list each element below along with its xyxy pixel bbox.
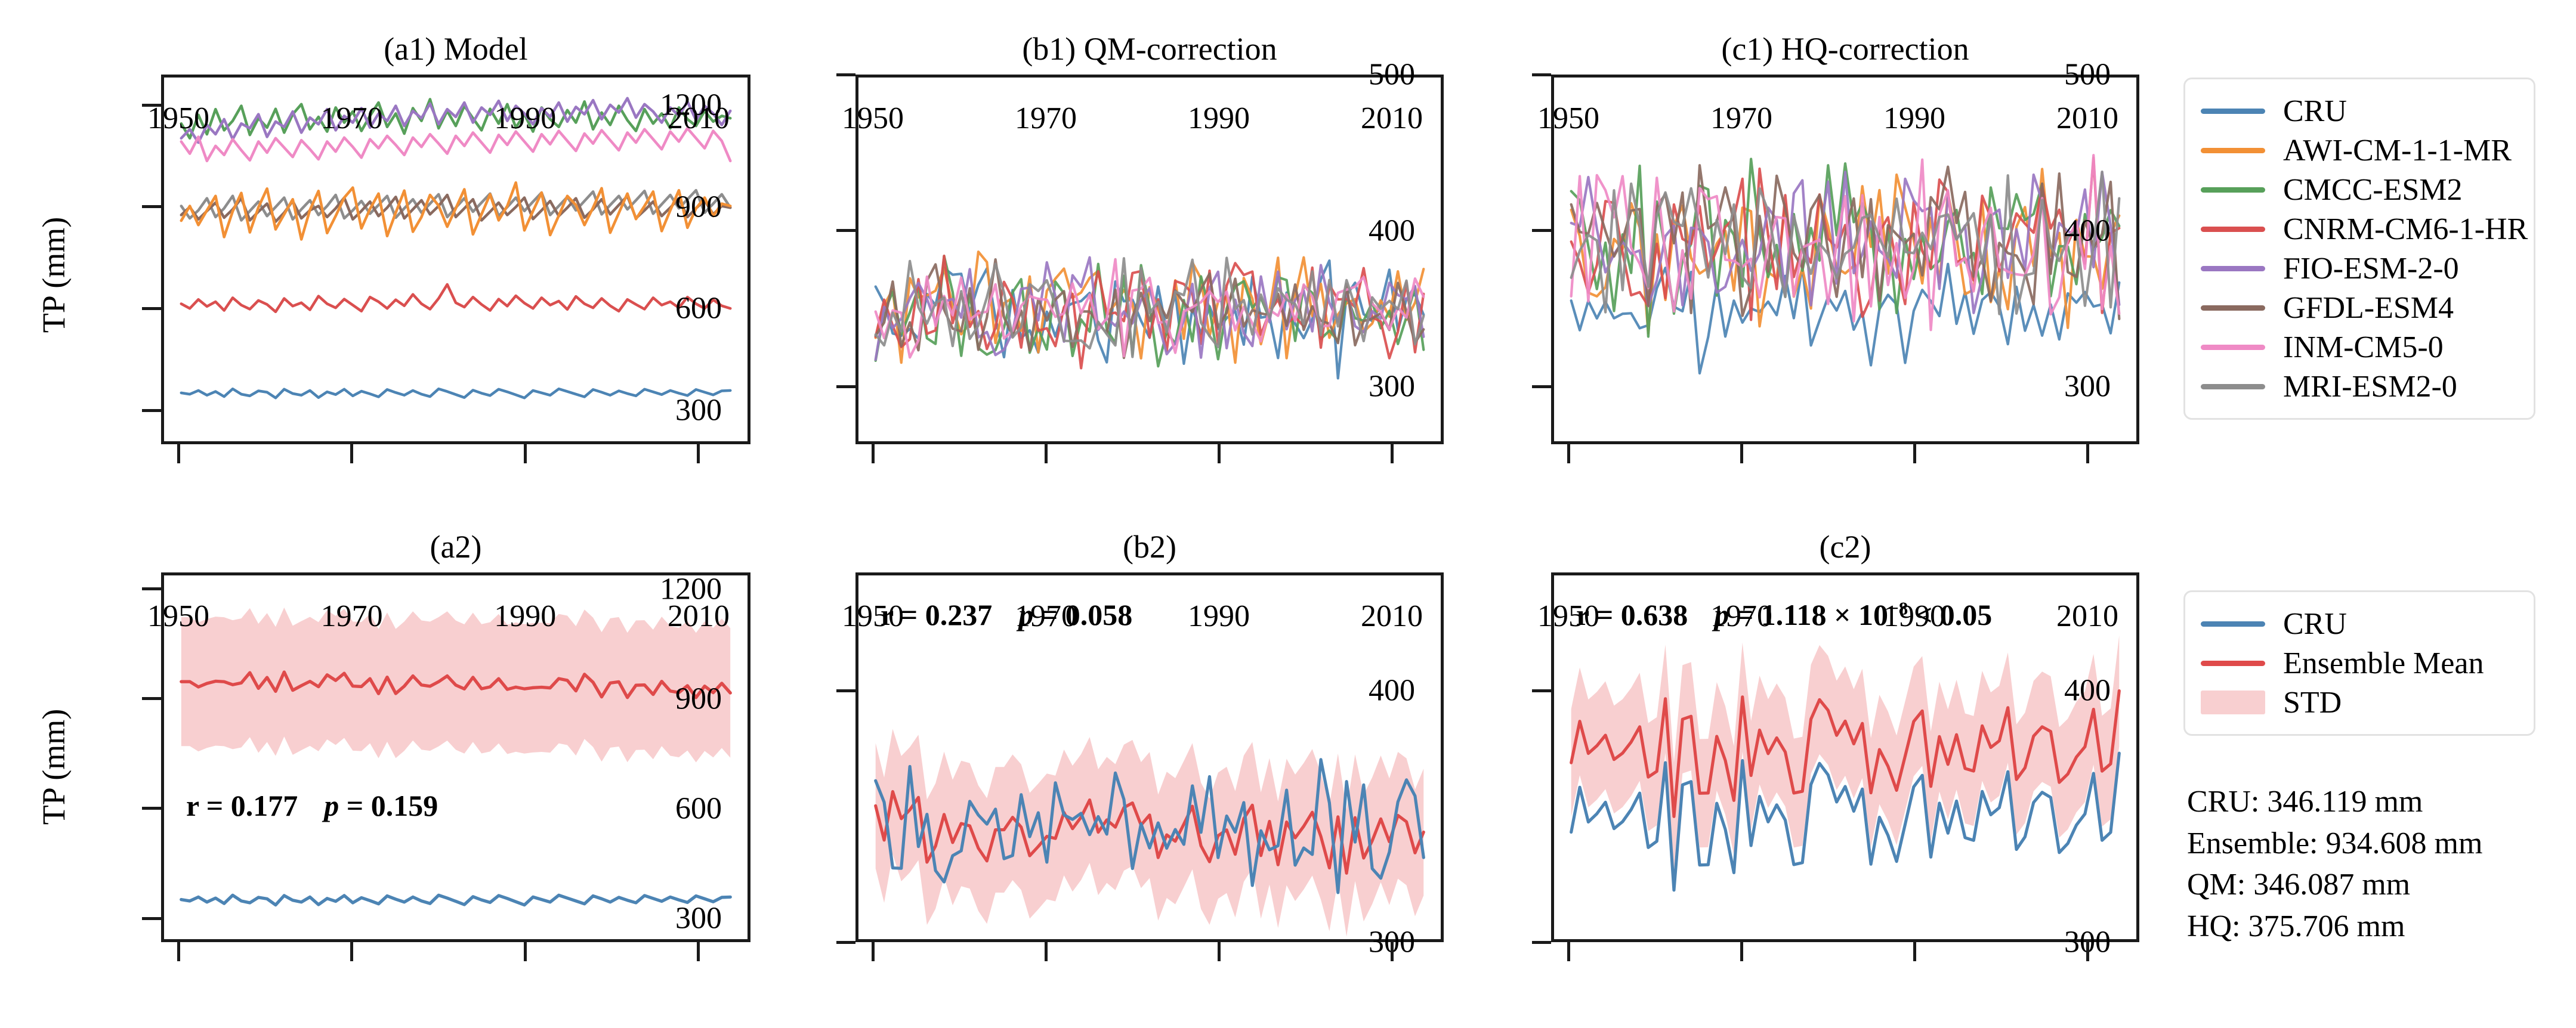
legend-label-fio-esm-2-0: FIO-ESM-2-0 [2283,251,2459,286]
ytick-label-c1-300: 300 [2064,369,2111,404]
xtick-a2-1990 [524,942,527,961]
xtick-c1-1950 [1567,444,1570,463]
legend-label-inm-cm5-0: INM-CM5-0 [2283,330,2444,365]
panel-b1-axes[interactable] [855,75,1444,444]
legend-label-awi-cm-1-1-mr: AWI-CM-1-1-MR [2283,133,2512,168]
xtick-c2-1970 [1740,942,1743,961]
c2-r-label: r [1576,598,1589,631]
xtick-a1-1970 [350,444,353,463]
c2-r-value: 0.638 [1621,598,1688,631]
legend-item-gfdl-esm4[interactable]: GFDL-ESM4 [2201,288,2516,327]
legend-label-cmcc-esm2: CMCC-ESM2 [2283,172,2463,208]
xtick-label-c1-1970: 1970 [1710,101,1772,136]
ytick-label-c1-500: 500 [2064,57,2111,92]
legend-item-cnrm-cm6-1-hr[interactable]: CNRM-CM6-1-HR [2201,209,2516,249]
xtick-label-b2-2010: 2010 [1361,599,1423,634]
legend-label-ensemble-mean: Ensemble Mean [2283,646,2484,681]
xtick-a1-1990 [524,444,527,463]
ytick-label-b2-400: 400 [1369,673,1415,708]
xtick-b2-2010 [1391,942,1394,961]
legend-label-mri-esm2-0: MRI-ESM2-0 [2283,369,2457,404]
xtick-c1-1990 [1913,444,1916,463]
ytick-a1-600 [142,307,161,310]
xtick-label-a1-1970: 1970 [321,101,383,136]
panel-a2-title: (a2) [161,528,750,565]
b2-r-value: 0.237 [925,598,993,631]
legend-item-mri-esm2-0[interactable]: MRI-ESM2-0 [2201,367,2516,406]
xtick-label-c1-1990: 1990 [1883,101,1945,136]
ytick-a2-600 [142,807,161,810]
panel-c1: (c1) HQ-correction 300400500 19501970199… [1551,75,2139,444]
stats-line-1: Ensemble: 934.608 mm [2187,823,2557,865]
legend-swatch-gfdl-esm4 [2201,305,2265,311]
ytick-label-b1-300: 300 [1369,369,1415,404]
xtick-label-b1-2010: 2010 [1361,101,1423,136]
xtick-c2-1990 [1913,942,1916,961]
ytick-a2-900 [142,697,161,700]
b2-p-label: p [1018,598,1033,631]
ytick-label-a1-900: 900 [675,189,722,224]
c2-p-exponent: −8 [1888,597,1908,618]
legend-item-cru[interactable]: CRU [2201,604,2516,643]
legend-item-cru[interactable]: CRU [2201,91,2516,131]
a2-r-value: 0.177 [231,789,298,822]
panel-b1-title: (b1) QM-correction [855,30,1444,67]
legend-swatch-awi-cm-1-1-mr [2201,148,2265,153]
series-a2-cru [181,895,730,905]
ytick-a1-900 [142,205,161,208]
series-a1-inm-cm5-0 [181,128,730,161]
xtick-b2-1990 [1218,942,1221,961]
xtick-label-b2-1990: 1990 [1188,599,1250,634]
panel-a2: (a2) 3006009001200 1950197019902010 r = … [161,572,750,942]
ytick-label-a2-300: 300 [675,901,722,936]
legend-item-std[interactable]: STD [2201,683,2516,722]
panel-a2-axes[interactable] [161,572,750,942]
c2-p-eq: = [1737,598,1754,631]
legend-item-inm-cm5-0[interactable]: INM-CM5-0 [2201,327,2516,367]
xtick-label-a2-1970: 1970 [321,599,383,634]
xtick-label-a2-2010: 2010 [668,599,730,634]
xtick-a1-2010 [697,444,700,463]
legend-swatch-mri-esm2-0 [2201,384,2265,389]
panel-b1: (b1) QM-correction 300400500 19501970199… [855,75,1444,444]
xtick-a2-1950 [177,942,180,961]
legend-label-cnrm-cm6-1-hr: CNRM-CM6-1-HR [2283,212,2528,247]
c2-p-compare: < 0.05 [1916,598,1993,631]
ytick-label-a2-900: 900 [675,681,722,716]
ytick-c1-400 [1532,229,1551,232]
a2-p-eq: = [347,789,364,822]
std-band-c2 [1571,636,2120,871]
xtick-b1-2010 [1391,444,1394,463]
b2-r-label: r [881,598,893,631]
ytick-label-b1-400: 400 [1369,213,1415,248]
ytick-b1-300 [836,385,855,388]
xtick-b1-1970 [1045,444,1048,463]
a2-p-label: p [324,789,339,822]
series-a1-cnrm-cm6-1-hr [181,284,730,312]
legend-swatch-cnrm-cm6-1-hr [2201,227,2265,232]
stats-summary: CRU: 346.119 mmEnsemble: 934.608 mmQM: 3… [2187,781,2557,948]
a2-p-value: 0.159 [371,789,438,822]
legend-item-awi-cm-1-1-mr[interactable]: AWI-CM-1-1-MR [2201,131,2516,170]
legend-item-fio-esm-2-0[interactable]: FIO-ESM-2-0 [2201,249,2516,288]
xtick-label-a2-1990: 1990 [494,599,556,634]
panel-c2-title: (c2) [1551,528,2139,565]
ytick-label-b1-500: 500 [1369,57,1415,92]
c2-p-label: p [1714,598,1729,631]
legend-swatch-inm-cm5-0 [2201,345,2265,350]
xtick-c1-2010 [2086,444,2089,463]
xtick-a2-1970 [350,942,353,961]
legend-label-std: STD [2283,685,2342,720]
xtick-b1-1950 [872,444,875,463]
ytick-b2-300 [836,941,855,944]
xtick-label-c1-1950: 1950 [1537,101,1599,136]
xtick-a2-2010 [697,942,700,961]
xtick-b1-1990 [1218,444,1221,463]
panel-b2-title: (b2) [855,528,1444,565]
c2-r-eq: = [1596,598,1614,631]
ytick-label-a1-300: 300 [675,393,722,428]
stats-line-3: HQ: 375.706 mm [2187,906,2557,948]
ytick-a2-300 [142,917,161,920]
legend-item-cmcc-esm2[interactable]: CMCC-ESM2 [2201,170,2516,209]
xtick-label-a1-1990: 1990 [494,101,556,136]
legend-swatch-fio-esm-2-0 [2201,266,2265,271]
ytick-a1-300 [142,409,161,412]
ytick-label-a2-600: 600 [675,791,722,826]
legend-ensemble[interactable]: CRUEnsemble MeanSTD [2183,590,2535,736]
panel-b2-stat-annotation: r = 0.237p = 0.058 [881,597,1132,632]
legend-swatch-cmcc-esm2 [2201,187,2265,193]
ytick-label-c2-400: 400 [2064,673,2111,708]
xtick-label-c1-2010: 2010 [2056,101,2118,136]
xtick-c1-1970 [1740,444,1743,463]
xtick-b2-1950 [872,942,875,961]
ytick-a2-1200 [142,587,161,590]
legend-label-gfdl-esm4: GFDL-ESM4 [2283,290,2454,326]
b2-p-value: 0.058 [1065,598,1133,631]
b2-r-eq: = [901,598,918,631]
xtick-label-a1-2010: 2010 [668,101,730,136]
a2-r-label: r [186,789,199,822]
panel-a1-title: (a1) Model [161,30,750,67]
panel-a1-axes[interactable] [161,75,750,444]
legend-swatch-std [2201,691,2265,714]
ytick-label-c1-400: 400 [2064,213,2111,248]
stats-line-0: CRU: 346.119 mm [2187,781,2557,823]
c2-p-mantissa: 1.118 × 10 [1761,598,1888,631]
ytick-b1-500 [836,73,855,76]
xtick-label-a1-1950: 1950 [147,101,209,136]
legend-swatch-cru [2201,109,2265,114]
panel-a2-stat-annotation: r = 0.177p = 0.159 [186,788,438,823]
ytick-c1-300 [1532,385,1551,388]
panel-b2: (b2) 300400 1950197019902010 r = 0.237p … [855,572,1444,942]
panel-c2: (c2) 300400 1950197019902010 r = 0.638p … [1551,572,2139,942]
legend-swatch-ensemble-mean [2201,661,2265,666]
xtick-b2-1970 [1045,942,1048,961]
ytick-label-a1-600: 600 [675,291,722,326]
ytick-b2-400 [836,689,855,692]
ylabel-row2: TP (mm) [35,677,72,856]
xtick-label-a2-1950: 1950 [147,599,209,634]
xtick-label-c2-2010: 2010 [2056,599,2118,634]
legend-models[interactable]: CRUAWI-CM-1-1-MRCMCC-ESM2CNRM-CM6-1-HRFI… [2183,78,2535,420]
figure-canvas: TP (mm) TP (mm) (a1) Model 3006009001200… [0,0,2576,1028]
legend-item-ensemble-mean[interactable]: Ensemble Mean [2201,643,2516,683]
panel-c1-axes[interactable] [1551,75,2139,444]
xtick-c2-1950 [1567,942,1570,961]
ytick-c2-300 [1532,941,1551,944]
legend-label-cru: CRU [2283,606,2347,642]
ytick-c1-500 [1532,73,1551,76]
legend-swatch-cru [2201,621,2265,627]
panel-c1-title: (c1) HQ-correction [1551,30,2139,67]
series-a1-cru [181,389,730,398]
xtick-a1-1950 [177,444,180,463]
ylabel-row1: TP (mm) [35,185,72,364]
a2-r-eq: = [206,789,224,822]
xtick-label-b1-1950: 1950 [842,101,904,136]
ytick-b1-400 [836,229,855,232]
legend-label-cru: CRU [2283,94,2347,129]
xtick-label-b1-1970: 1970 [1015,101,1077,136]
xtick-label-b1-1990: 1990 [1188,101,1250,136]
panel-c2-stat-annotation: r = 0.638p = 1.118 × 10−8 < 0.05 [1576,597,1992,632]
stats-line-2: QM: 346.087 mm [2187,864,2557,906]
b2-p-eq: = [1041,598,1058,631]
ytick-c2-400 [1532,689,1551,692]
panel-a1: (a1) Model 3006009001200 195019701990201… [161,75,750,444]
xtick-c2-2010 [2086,942,2089,961]
